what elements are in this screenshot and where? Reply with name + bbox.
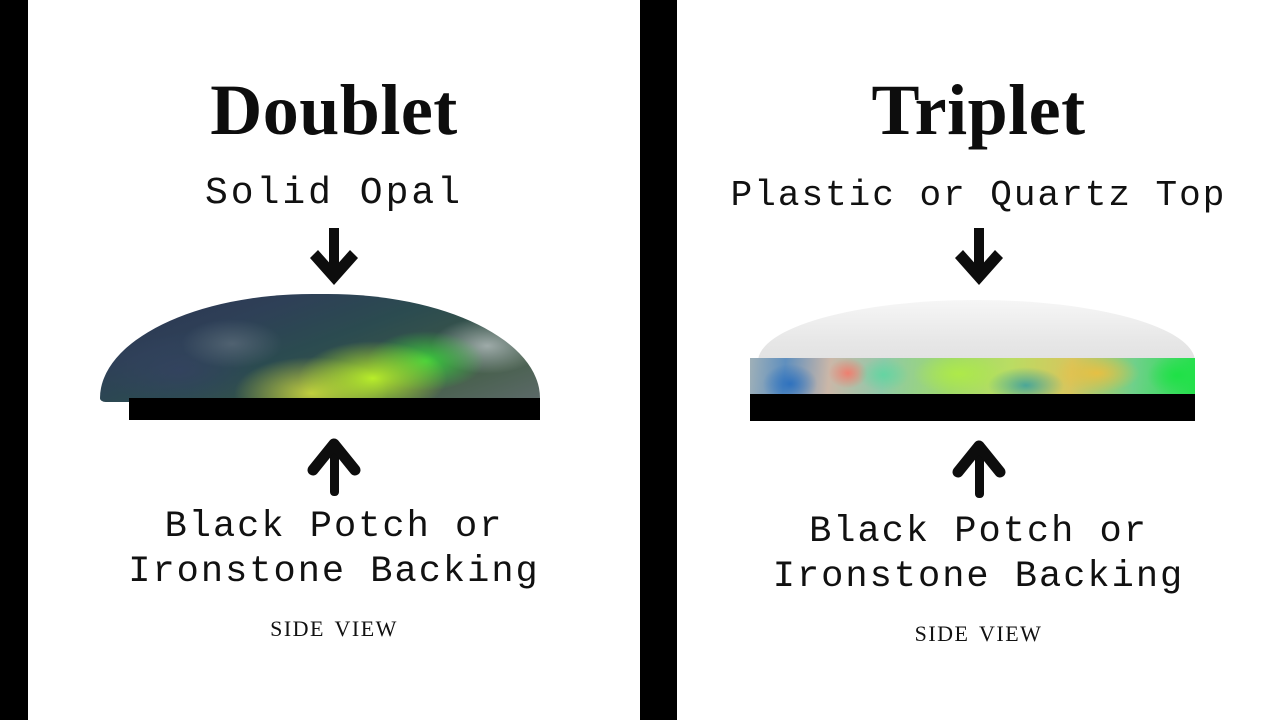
backing-label-line-2: Ironstone Backing [28, 550, 640, 595]
infographic-canvas: Doublet Solid Opal Black Potch or Ironst… [0, 0, 1280, 720]
bottom-label-block-triplet: Black Potch or Ironstone Backing Side Vi… [677, 510, 1280, 646]
black-backing-layer [750, 394, 1195, 421]
left-frame-bar [0, 0, 28, 720]
backing-label-line-1: Black Potch or [28, 505, 640, 550]
arrow-up-icon [951, 436, 1007, 498]
view-label-triplet: Side View [677, 614, 1280, 646]
center-divider-bar [640, 0, 677, 720]
page-title-triplet: Triplet [677, 74, 1280, 146]
doublet-diagram [100, 294, 540, 422]
arrow-down-icon [306, 228, 362, 290]
arrow-up-icon [306, 434, 362, 496]
panel-doublet: Doublet Solid Opal Black Potch or Ironst… [28, 0, 640, 720]
backing-label-line-1: Black Potch or [677, 510, 1280, 555]
arrow-down-icon [951, 228, 1007, 290]
view-label-doublet: Side View [28, 609, 640, 641]
panel-triplet: Triplet Plastic or Quartz Top Black Potc… [677, 0, 1280, 720]
quartz-top-layer [758, 300, 1195, 362]
bottom-label-block-doublet: Black Potch or Ironstone Backing Side Vi… [28, 505, 640, 641]
backing-label-line-2: Ironstone Backing [677, 555, 1280, 600]
opal-slice-layer [750, 358, 1195, 396]
triplet-diagram [750, 300, 1195, 424]
top-layer-label-doublet: Solid Opal [28, 175, 640, 213]
top-layer-label-triplet: Plastic or Quartz Top [677, 178, 1280, 214]
solid-opal-dome-layer [100, 294, 540, 402]
page-title-doublet: Doublet [28, 74, 640, 146]
black-backing-layer [129, 398, 540, 420]
